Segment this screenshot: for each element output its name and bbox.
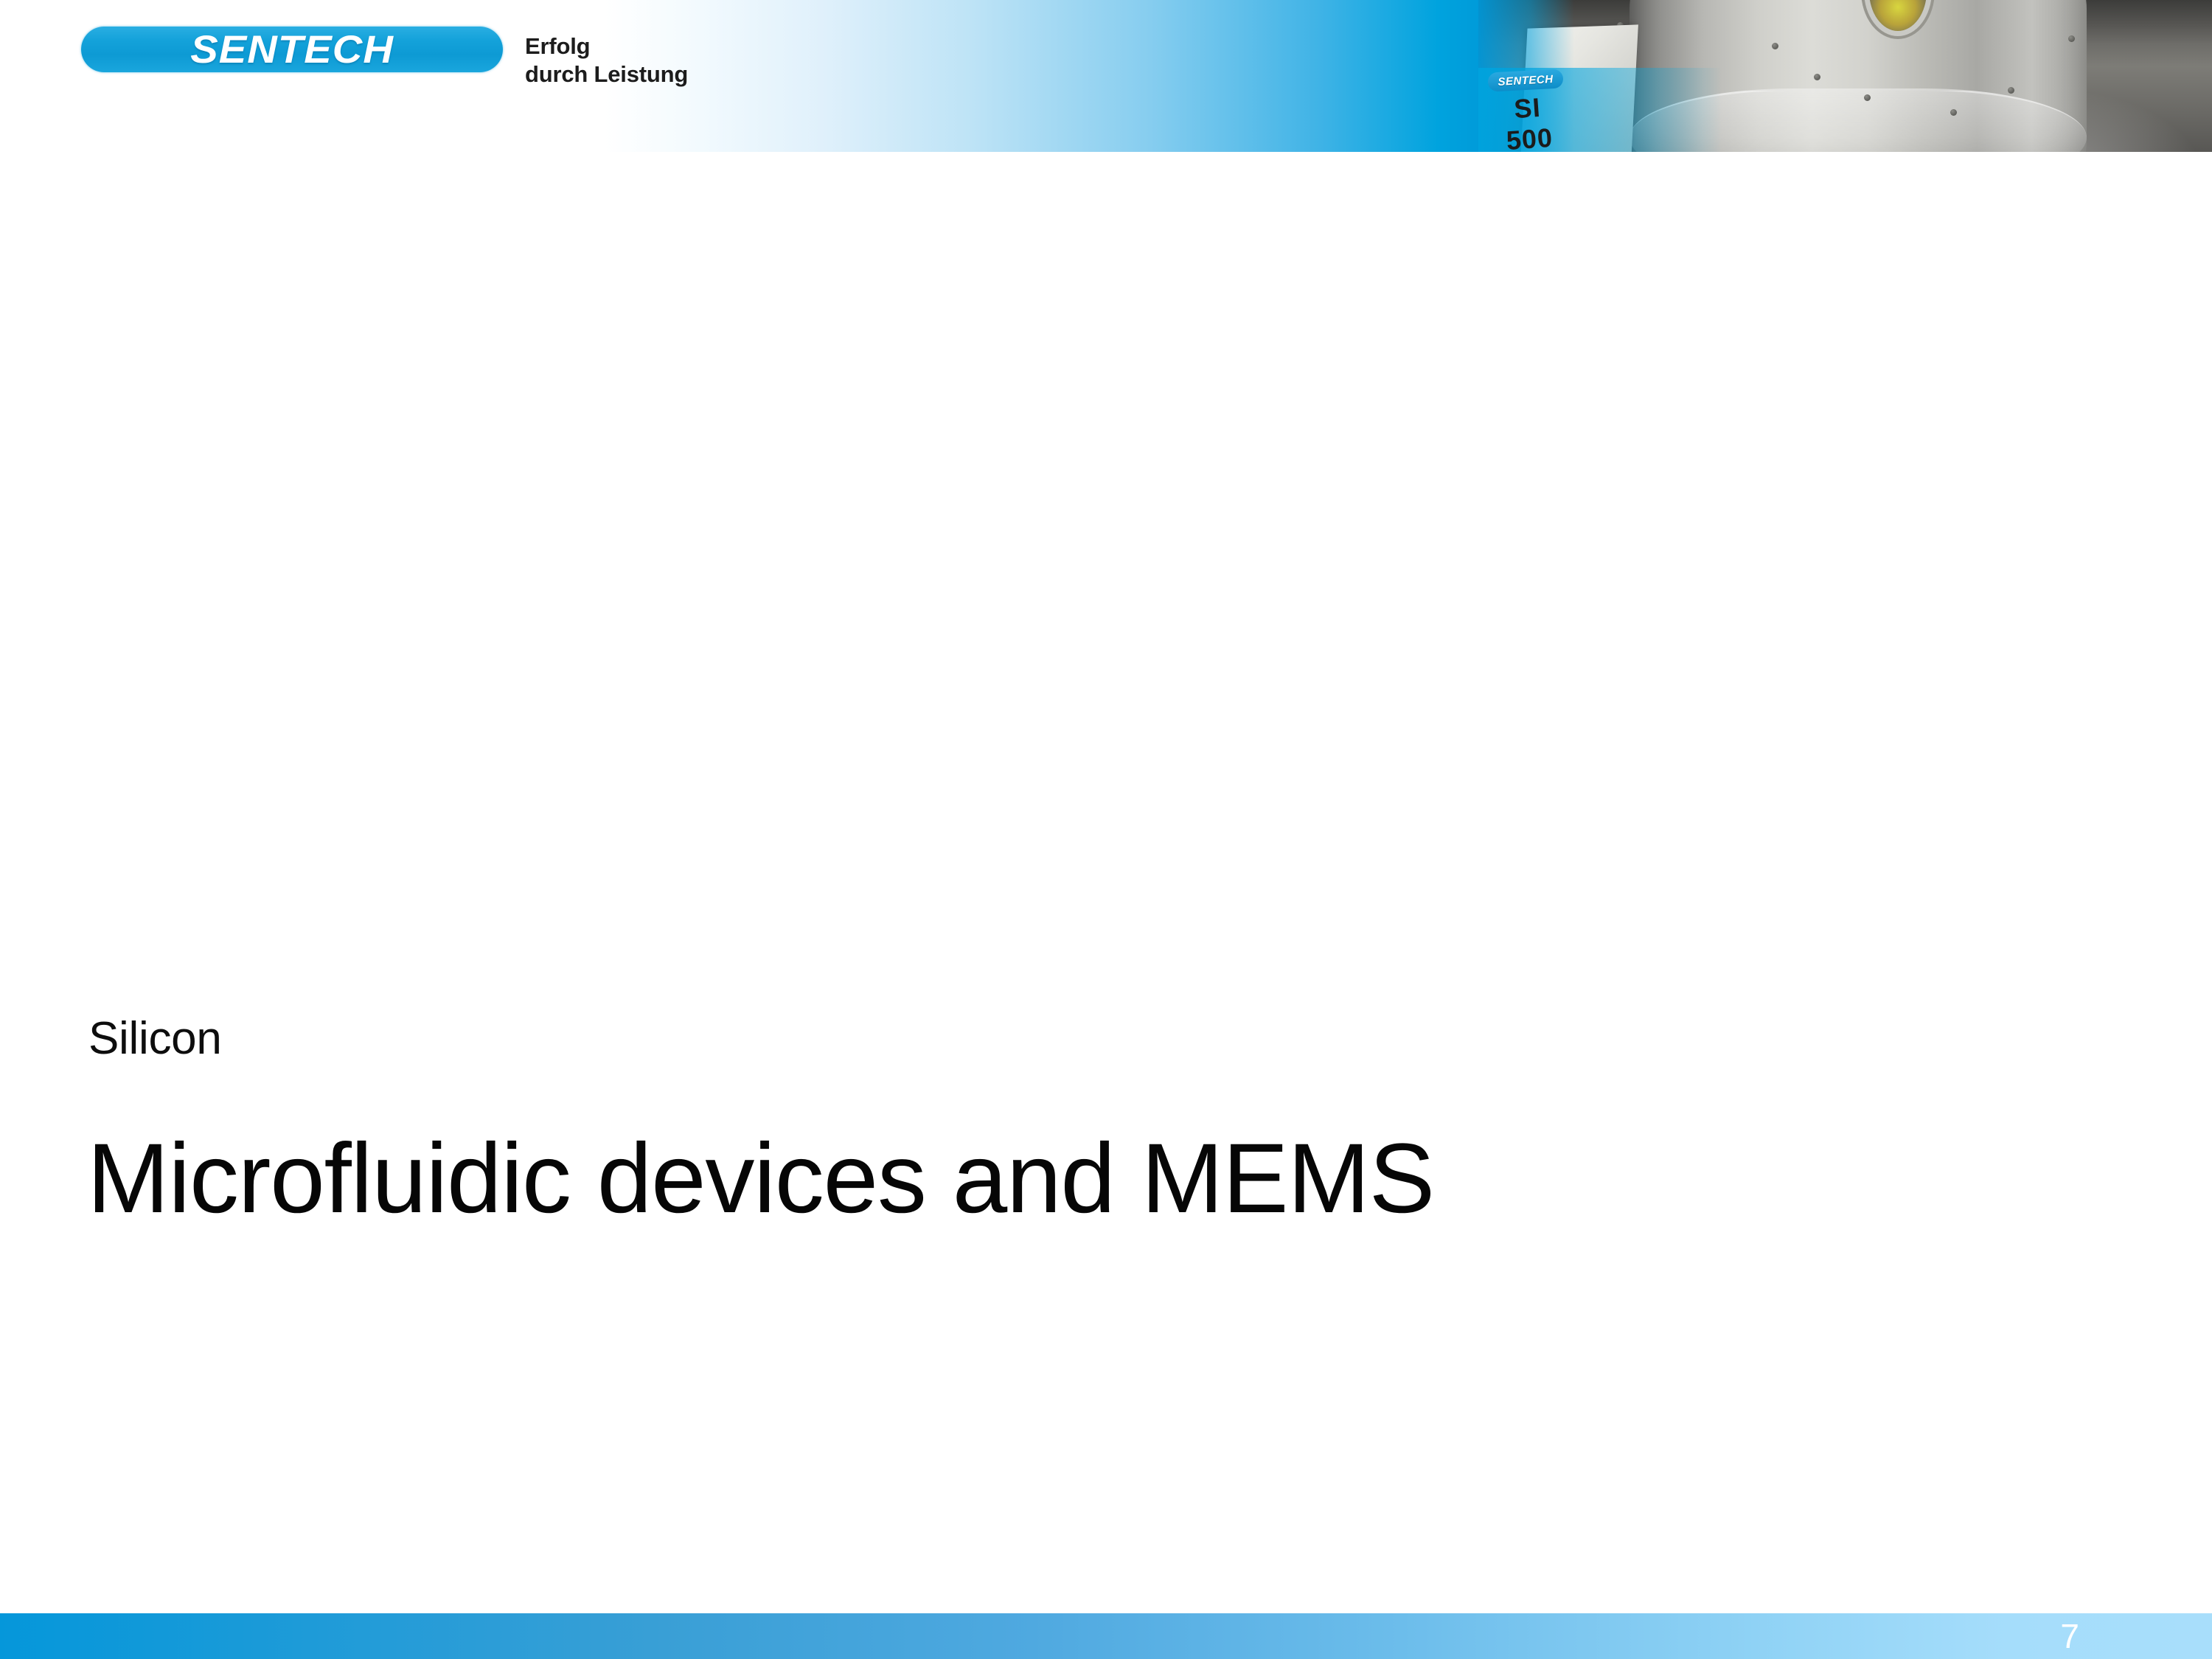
slide-subtitle: Silicon	[88, 1016, 1930, 1062]
chamber-bolt	[2008, 87, 2014, 94]
sentech-wordmark: SENTECH	[190, 30, 394, 69]
page-number: 7	[2060, 1613, 2079, 1659]
chamber-bolt	[1950, 109, 1957, 116]
chamber-bolt	[1814, 74, 1820, 80]
sentech-tagline: Erfolg durch Leistung	[525, 32, 688, 88]
chamber-bolt	[1864, 94, 1871, 101]
sentech-logo[interactable]: SENTECH	[81, 27, 503, 72]
slide-title: Microfluidic devices and MEMS	[87, 1130, 1930, 1228]
machine-model-text: SI 500	[1486, 90, 1571, 152]
slide-content: Silicon Microfluidic devices and MEMS	[87, 1016, 1930, 1228]
chamber-bolt	[2068, 35, 2075, 42]
slide-footer-bar: 7	[0, 1613, 2212, 1659]
presentation-slide: SENTECH SI 500 SENTECH Erfolg durch Leis…	[0, 0, 2212, 1659]
slide-header-banner: SENTECH SI 500 SENTECH Erfolg durch Leis…	[0, 0, 2212, 152]
sentech-logo-pill: SENTECH	[81, 27, 503, 72]
chamber-bolt	[1772, 43, 1778, 49]
header-machine-photo	[1478, 0, 2212, 152]
machine-brand-badge: SENTECH	[1487, 69, 1563, 91]
